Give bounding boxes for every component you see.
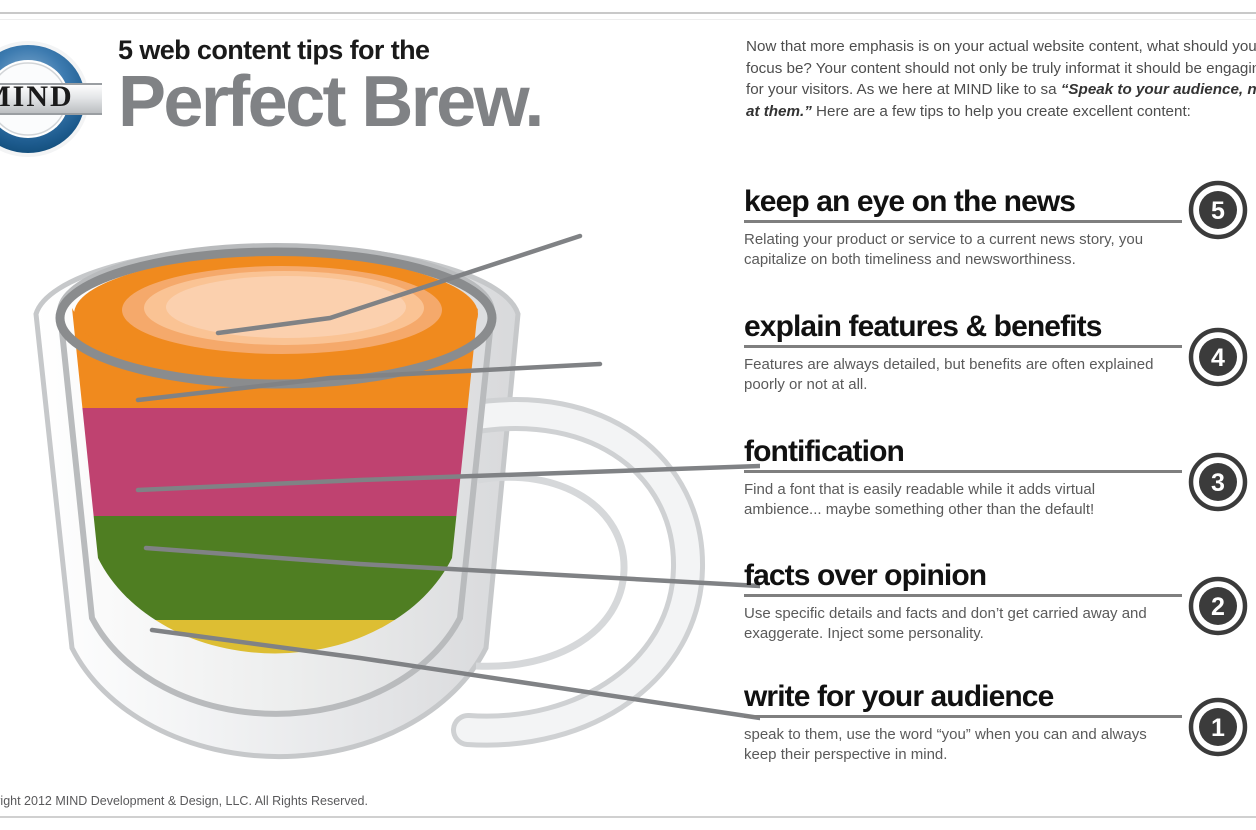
tip-item-1[interactable]: write for your audience speak to them, u…: [744, 681, 1256, 765]
tip-item-2[interactable]: facts over opinion Use specific details …: [744, 560, 1256, 644]
tip-2-number-badge: 2: [1188, 576, 1248, 636]
tip-2-number: 2: [1211, 593, 1225, 621]
tip-3-heading: fontification: [744, 436, 1256, 468]
tip-4-heading: explain features & benefits: [744, 311, 1256, 343]
tip-3-number: 3: [1211, 469, 1225, 497]
mind-logo: MIND: [0, 38, 102, 160]
tip-item-5[interactable]: keep an eye on the news Relating your pr…: [744, 186, 1256, 270]
headline-kicker: 5 web content tips for the: [118, 36, 718, 64]
tip-2-heading: facts over opinion: [744, 560, 1256, 592]
tip-1-number: 1: [1211, 714, 1225, 742]
page-title: Perfect Brew.: [118, 66, 718, 138]
top-divider-secondary: [0, 19, 1256, 20]
infographic-page: MIND 5 web content tips for the Perfect …: [0, 0, 1256, 830]
tip-3-rule: [744, 470, 1182, 473]
tip-item-4[interactable]: explain features & benefits Features are…: [744, 311, 1256, 395]
tip-4-number: 4: [1211, 344, 1225, 372]
copyright-notice: yright 2012 MIND Development & Design, L…: [0, 794, 368, 808]
tip-5-rule: [744, 220, 1182, 223]
tip-5-number-badge: 5: [1188, 180, 1248, 240]
tip-1-heading: write for your audience: [744, 681, 1256, 713]
coffee-cup-illustration: [0, 218, 760, 788]
tip-3-body: Find a font that is easily readable whil…: [744, 480, 1176, 520]
tip-item-3[interactable]: fontification Find a font that is easily…: [744, 436, 1256, 520]
tip-5-number: 5: [1211, 197, 1225, 225]
tip-2-body: Use specific details and facts and don’t…: [744, 604, 1176, 644]
intro-paragraph: Now that more emphasis is on your actual…: [746, 36, 1256, 122]
tip-3-number-badge: 3: [1188, 452, 1248, 512]
tip-2-rule: [744, 594, 1182, 597]
tip-5-body: Relating your product or service to a cu…: [744, 230, 1176, 270]
tip-4-number-badge: 4: [1188, 327, 1248, 387]
footer-divider: [0, 816, 1256, 818]
tip-5-heading: keep an eye on the news: [744, 186, 1256, 218]
intro-part-2: Here are a few tips to help you create e…: [812, 103, 1191, 120]
logo-text: MIND: [0, 80, 74, 113]
top-divider: [0, 12, 1256, 14]
tip-4-body: Features are always detailed, but benefi…: [744, 355, 1176, 395]
tip-1-number-badge: 1: [1188, 697, 1248, 757]
coffee-layer-pink: [40, 408, 520, 516]
headline-block: 5 web content tips for the Perfect Brew.: [118, 36, 718, 138]
tip-1-rule: [744, 715, 1182, 718]
tip-1-body: speak to them, use the word “you” when y…: [744, 725, 1176, 765]
tip-4-rule: [744, 345, 1182, 348]
